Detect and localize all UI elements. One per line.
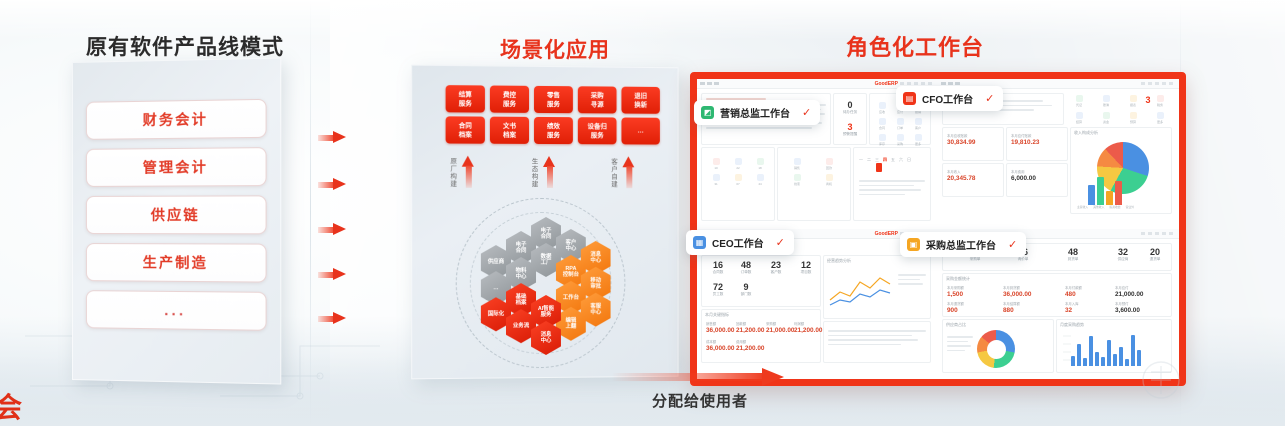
entry-grid: 10 22 18 31 07 44 <box>707 158 769 186</box>
list-item[interactable]: 财务会计 <box>86 99 267 140</box>
money-card[interactable]: 本月收入 20,345.78 <box>942 163 1004 197</box>
money-value: 本月采购额1,500 <box>947 286 964 299</box>
grid-icon: ▦ <box>693 236 706 249</box>
money-value: 本月收入 20,345.78 <box>947 170 975 183</box>
wallet-icon: ▤ <box>903 92 916 105</box>
legacy-product-panel: 财务会计 管理会计 供应链 生产制造 ... <box>72 57 281 384</box>
right-section-title: 角色化工作台 <box>846 30 984 62</box>
flow-arrow-icon <box>318 268 346 281</box>
kpi-value: 3 预警提醒 <box>834 122 866 137</box>
money-value: 本月应收账款 30,834.99 <box>947 134 975 147</box>
money-card[interactable]: 本月应收账款 30,834.99 <box>942 127 1004 161</box>
build-arrow-icon <box>622 156 635 188</box>
legacy-product-list: 财务会计 管理会计 供应链 生产制造 ... <box>86 99 267 331</box>
brand-logo: GoodERP <box>875 81 898 87</box>
chart-title: 月度采购趋势 <box>1060 322 1084 328</box>
role-label: 采购总监工作台 <box>926 237 996 252</box>
kpi-value: 20退货单 <box>1141 247 1169 262</box>
kpi-card[interactable]: 0 待办任务 3 预警提醒 <box>833 93 867 145</box>
money-card[interactable]: 本月费用 6,000.00 <box>1006 163 1068 197</box>
money-value: 本月应付账款 19,810.23 <box>1011 134 1039 147</box>
kpi-value: 9部门数 <box>734 282 758 297</box>
build-arrow-label: 客户自建 <box>609 158 617 188</box>
money-value: 成本额36,000.00 <box>706 340 734 353</box>
check-icon: ✓ <box>1008 238 1017 251</box>
toolbar-icons <box>1141 82 1175 85</box>
legend-rows <box>898 274 926 288</box>
scenario-tile[interactable]: 零售服务 <box>534 86 573 113</box>
scenario-tile[interactable]: 采购寻源 <box>578 86 617 113</box>
left-section-title: 原有软件产品线模式 <box>86 31 284 61</box>
toolbar-icons <box>1141 232 1175 235</box>
calendar-week: 一二三四五六日 <box>859 157 911 163</box>
money-value: 回款额21,200.00 <box>736 322 764 335</box>
money-card[interactable]: 本月应付账款 19,810.23 <box>1006 127 1068 161</box>
money-value: 利润额21,200.00 <box>794 322 822 335</box>
role-label: CEO工作台 <box>712 235 764 250</box>
kpi-value: 16合同数 <box>706 260 730 275</box>
kpi-card[interactable]: 16合同数 48订单数 23客户数 12项目数 72员工数 9部门数 <box>701 255 821 307</box>
flow-arrow-icon <box>318 131 346 144</box>
role-chip-ceo[interactable]: ▦ CEO工作台 ✓ <box>686 230 794 255</box>
assign-arrow-icon <box>612 368 797 384</box>
chart-title: 经营趋势分析 <box>827 258 851 264</box>
menu-dots-icon <box>941 82 961 85</box>
build-arrow-label: 生态构建 <box>529 158 537 188</box>
y-axis <box>1063 332 1071 366</box>
agenda-rows <box>859 180 925 198</box>
kpi-badge: 3 <box>1134 95 1162 105</box>
middle-section-title: 场景化应用 <box>500 34 610 64</box>
scenario-tile[interactable]: 结算服务 <box>446 85 485 112</box>
donut-chart-card[interactable]: 供应商占比 <box>942 319 1054 373</box>
chart-icon: ◩ <box>701 106 714 119</box>
card-title: 本月关键指标 <box>705 312 729 318</box>
calendar-today <box>876 163 882 172</box>
kpi-value: 72员工数 <box>706 282 730 297</box>
kpi-value: 12项目数 <box>794 260 818 275</box>
watermark-logo <box>1125 358 1275 420</box>
scenario-tile[interactable]: 退旧换新 <box>621 87 659 114</box>
money-table-card[interactable]: 本月关键指标 销售额36,000.00 回款额21,200.00 采购额21,0… <box>701 309 821 363</box>
menu-dots-icon <box>700 82 720 85</box>
scenario-tile[interactable]: 设备归服务 <box>578 117 617 144</box>
bar-chart <box>1088 171 1122 205</box>
money-value: 本月入库32 <box>1065 302 1079 315</box>
kpi-value: 48订单数 <box>734 260 758 275</box>
toolbar-icons <box>900 82 934 85</box>
summary-rows <box>828 330 926 348</box>
kpi-value: 48到货单 <box>1059 247 1087 262</box>
line-chart <box>828 270 894 310</box>
cart-icon: ▣ <box>907 238 920 251</box>
money-value: 本月到货额36,000.00 <box>1003 286 1031 299</box>
panel-card[interactable]: 销售 回款 线索 商机 <box>777 147 851 221</box>
brand-logo: GoodERP <box>875 231 898 237</box>
money-value: 本月费用 6,000.00 <box>1011 170 1036 183</box>
assign-label: 分配给使用者 <box>652 390 748 411</box>
scenario-tile-grid: 结算服务 费控服务 零售服务 采购寻源 退旧换新 合同档案 文书档案 绩效服务 … <box>446 85 660 144</box>
money-value: 本月付款额480 <box>1065 286 1082 299</box>
summary-card[interactable] <box>823 321 931 363</box>
panel-card[interactable]: 10 22 18 31 07 44 <box>701 147 775 221</box>
chart-title: 收入构成分析 <box>1074 130 1098 136</box>
chart-title: 供应商占比 <box>946 322 966 328</box>
money-value: 费用额21,200.00 <box>736 340 764 353</box>
role-label: CFO工作台 <box>922 91 973 106</box>
kpi-value: 0 待办任务 <box>834 100 866 115</box>
check-icon: ✓ <box>985 92 994 105</box>
slide-canvas: 原有软件产品线模式 财务会计 管理会计 供应链 生产制造 ... 场景化应用 结… <box>0 0 1285 426</box>
build-arrow-icon <box>462 156 475 188</box>
build-arrow-label: 原厂构建 <box>448 158 456 188</box>
kpi-value: 32供应商 <box>1109 247 1137 262</box>
scenario-app-panel: 结算服务 费控服务 零售服务 采购寻源 退旧换新 合同档案 文书档案 绩效服务 … <box>411 65 678 380</box>
calendar-card[interactable]: 一二三四五六日 <box>853 147 931 221</box>
role-chip-marketing[interactable]: ◩ 营销总监工作台 ✓ <box>694 100 820 125</box>
scenario-tile[interactable]: 费控服务 <box>490 86 529 113</box>
scenario-tile[interactable]: 合同档案 <box>446 116 485 143</box>
flow-arrow-icon <box>318 223 346 236</box>
flow-arrow-icon <box>318 178 346 191</box>
check-icon: ✓ <box>776 236 785 249</box>
flow-arrow-icon <box>318 312 346 325</box>
list-item[interactable]: 供应链 <box>86 195 267 234</box>
list-item[interactable]: 管理会计 <box>86 147 267 187</box>
trend-chart-card[interactable]: 经营趋势分析 <box>823 255 931 319</box>
donut-chart <box>977 330 1015 368</box>
money-value: 本月结算额880 <box>1003 302 1020 315</box>
money-value: 本月退货额900 <box>947 302 964 315</box>
role-label: 营销总监工作台 <box>720 105 790 120</box>
money-value: 本月预付3,600.00 <box>1115 302 1140 315</box>
list-item[interactable]: ... <box>86 290 267 331</box>
list-item[interactable]: 生产制造 <box>86 243 267 283</box>
scenario-tile[interactable]: 绩效服务 <box>534 117 573 144</box>
chart-legend: 主营收入其他收入投资收益营业外 <box>1077 205 1134 209</box>
role-chip-cfo[interactable]: ▤ CFO工作台 ✓ <box>896 86 1003 111</box>
scenario-tile[interactable]: 文书档案 <box>490 117 529 144</box>
money-value: 本月应付21,000.00 <box>1115 286 1143 299</box>
platform-hex-cluster: 供应商 电子合同 电子合同 物料中心 数据工厂 客户中心 … 消息中心 RPA控… <box>440 196 651 369</box>
money-table-card[interactable]: 采购金额统计 本月采购额1,500 本月到货额36,000.00 本月付款额48… <box>942 273 1172 317</box>
corner-mark: 会 <box>0 386 22 426</box>
scenario-tile[interactable]: … <box>621 118 659 145</box>
money-value: 销售额36,000.00 <box>706 322 734 335</box>
legend-rows <box>947 336 973 354</box>
role-chip-purchase[interactable]: ▣ 采购总监工作台 ✓ <box>900 232 1026 257</box>
check-icon: ✓ <box>802 106 811 119</box>
build-arrow-icon <box>543 156 556 188</box>
entry-grid: 销售 回款 线索 商机 <box>783 158 843 186</box>
money-value: 采购额21,000.00 <box>766 322 794 335</box>
card-title: 采购金额统计 <box>946 276 970 282</box>
kpi-value: 23客户数 <box>764 260 788 275</box>
